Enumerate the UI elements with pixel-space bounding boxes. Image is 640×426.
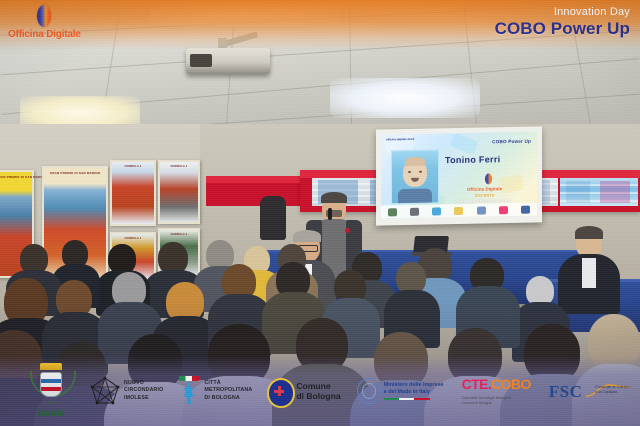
- sponsor-logo-mark: [410, 207, 419, 215]
- republic-emblem-icon: [357, 378, 381, 404]
- sponsor-logo-mark: [432, 207, 441, 215]
- fsc-swoosh-icon: Fondo per lo Sviluppo e la Coesione: [585, 382, 631, 400]
- racing-poster: FORMULA 1: [158, 160, 200, 224]
- logo-subtitle: Fondo per lo Sviluppo e la Coesione: [595, 385, 630, 395]
- poster-title: FORMULA 1: [160, 233, 198, 236]
- bologna-figure-icon: [177, 376, 201, 406]
- event-title: COBO Power Up: [495, 19, 630, 39]
- racing-poster: FORMULA 1: [110, 160, 156, 226]
- ceiling-projector-icon: [186, 48, 270, 74]
- logo-text: CITTÀ METROPOLITANA DI BOLOGNA: [204, 380, 252, 402]
- bologna-crest-icon: [266, 376, 292, 406]
- poster-title: FORMULA 1: [112, 165, 154, 168]
- slide-speaker-name: Tonino Ferri: [445, 154, 500, 165]
- logo-line-1: Ministero delle Imprese: [384, 382, 444, 389]
- logo-name-part-b: COBO: [491, 376, 531, 392]
- window-glass: [560, 178, 638, 206]
- logo-subtitle: CITTÀ DI: [44, 401, 59, 405]
- brand-name: Officina Digitale: [8, 29, 81, 40]
- logo-comune-di-bologna: Comune di Bologna: [266, 376, 340, 406]
- poster-title: FORMULA 1: [160, 165, 198, 168]
- sponsor-logo-row: CITTÀ DI Imola: [0, 363, 640, 419]
- logo-text: Ministero delle Imprese e del Made in It…: [384, 382, 444, 401]
- red-wall-highlight: [206, 176, 302, 183]
- italian-flag-icon: [384, 398, 430, 401]
- sponsor-logo-mark: [454, 206, 463, 214]
- pentagon-network-icon: [90, 376, 120, 406]
- event-subtitle: Innovation Day: [495, 6, 630, 18]
- ceiling-light: [330, 78, 480, 118]
- logo-line-1: Comune: [296, 381, 340, 391]
- poster-title: GRAN PREMIO DI SAN MARINO: [44, 171, 106, 175]
- logo-line-1: CITTÀ: [204, 380, 252, 387]
- logo-name: Imola: [37, 408, 65, 419]
- slide-speaker-portrait: [391, 149, 439, 204]
- header-brand-bar: Officina Digitale Innovation Day COBO Po…: [0, 0, 640, 50]
- slide-corner-logo: officina-digitale-mark: [386, 137, 414, 142]
- logo-line-2: METROPOLITANA: [204, 387, 252, 394]
- sponsor-logo-mark: [521, 205, 530, 213]
- imola-coat-of-arms-icon: [40, 372, 62, 397]
- logo-sub-line-2: Comune di Bologna: [462, 401, 512, 406]
- logo-line-2: CIRCONDARIO: [124, 387, 163, 394]
- logo-citta-metropolitana-di-bologna: CITTÀ METROPOLITANA DI BOLOGNA: [177, 376, 252, 406]
- sponsor-logo-mark: [477, 206, 486, 214]
- poster-title: GRAN PREMIO DI SAN MARINO: [0, 175, 32, 179]
- sponsor-logo-mark: [388, 208, 397, 216]
- officina-digitale-oval-icon: [485, 173, 492, 184]
- sponsor-logo-mark: [499, 206, 508, 214]
- projection-screen: officina-digitale-mark Innovation Day CO…: [381, 132, 537, 219]
- lapel-badge: [345, 228, 350, 233]
- logo-line-3: IMOLESE: [124, 395, 163, 402]
- logo-citta-di-imola: CITTÀ DI Imola: [28, 363, 74, 419]
- logo-line-1: NUOVO: [124, 380, 163, 387]
- footer-sponsor-bar: CITTÀ DI Imola: [0, 356, 640, 426]
- logo-acronym: FSC: [549, 383, 583, 400]
- officina-digitale-oval-icon: [37, 5, 51, 27]
- logo-line-3: DI BOLOGNA: [204, 395, 252, 402]
- logo-text: NUOVO CIRCONDARIO IMOLESE: [124, 380, 163, 401]
- logo-sub-line-2: e la Coesione: [595, 390, 630, 395]
- logo-name: CTE.COBO: [462, 377, 531, 391]
- logo-line-2: e del Made in Italy: [384, 389, 444, 396]
- logo-text: Comune di Bologna: [296, 381, 340, 401]
- logo-cte-cobo: CTE.COBO Casa delle Tecnologie Emergenti…: [462, 377, 531, 406]
- slide-brand-name: Officina Digitale: [467, 186, 502, 192]
- crown-icon: [40, 363, 62, 370]
- logo-fsc: FSC Fondo per lo Sviluppo e la Coesione: [549, 382, 632, 400]
- slide-event-title: COBO Power Up: [492, 139, 531, 145]
- slide-speaker-role: DOCENTE: [475, 193, 495, 197]
- logo-nuovo-circondario-imolese: NUOVO CIRCONDARIO IMOLESE: [90, 376, 163, 406]
- logo-name-part-a: CTE.: [462, 376, 492, 392]
- event-title-block: Innovation Day COBO Power Up: [495, 6, 630, 39]
- microphone-icon: [328, 208, 332, 220]
- hanging-coat: [260, 196, 286, 240]
- event-photo-banner: GRAN PREMIO DI SAN MARINO GRAN PREMIO DI…: [0, 0, 640, 426]
- slide-event-branding: Innovation Day COBO Power Up: [492, 135, 531, 145]
- logo-line-2: di Bologna: [296, 391, 340, 401]
- officina-digitale-logo: Officina Digitale: [8, 5, 81, 40]
- logo-subtitle: Casa delle Tecnologie Emergenti Comune d…: [462, 396, 512, 406]
- logo-ministero-imprese-made-in-italy: Ministero delle Imprese e del Made in It…: [357, 378, 444, 404]
- logo-sub-line-1: Casa delle Tecnologie Emergenti: [462, 396, 512, 401]
